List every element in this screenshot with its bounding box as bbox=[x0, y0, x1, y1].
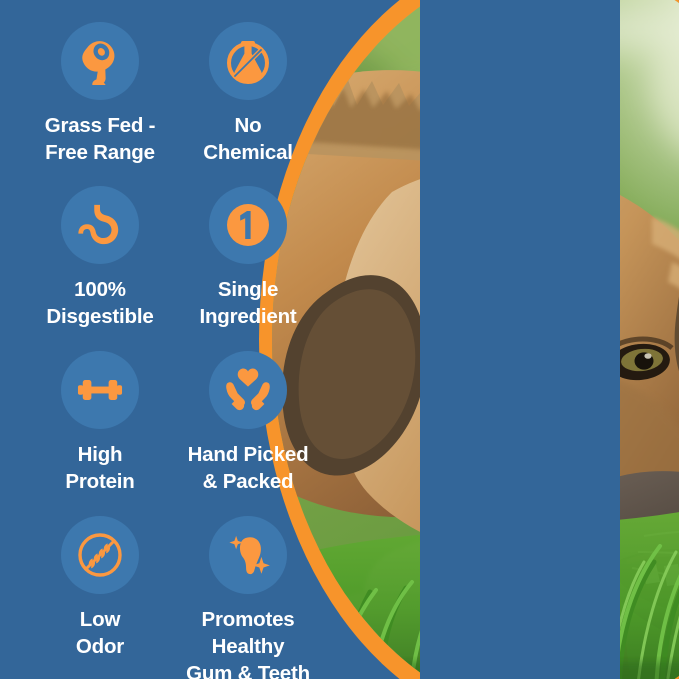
feature-label: Promotes Healthy Gum & Teeth bbox=[174, 606, 322, 679]
feature-hand-picked: Hand Picked & Packed bbox=[174, 351, 322, 495]
feature-icon-wrap bbox=[209, 351, 287, 429]
no-chemical-flask-icon bbox=[224, 37, 272, 85]
feature-grid: Grass Fed - Free Range No Chemical bbox=[0, 0, 348, 679]
feature-row-4: Low Odor Promotes Healthy Gum & Teeth bbox=[0, 516, 348, 679]
no-wheat-icon bbox=[76, 531, 124, 579]
feature-healthy-teeth: Promotes Healthy Gum & Teeth bbox=[174, 516, 322, 679]
ham-leg-icon bbox=[76, 37, 124, 85]
feature-label: Low Odor bbox=[76, 606, 124, 660]
feature-row-2: 100% Disgestible Single Ingredient bbox=[0, 186, 348, 330]
feature-label: No Chemical bbox=[203, 112, 293, 166]
feature-icon-wrap bbox=[209, 186, 287, 264]
feature-low-odor: Low Odor bbox=[26, 516, 174, 660]
dumbbell-icon bbox=[77, 367, 123, 413]
feature-label: Grass Fed - Free Range bbox=[45, 112, 156, 166]
feature-icon-wrap bbox=[209, 22, 287, 100]
feature-row-3: High Protein Hand Picked & Packed bbox=[0, 351, 348, 495]
feature-no-chemical: No Chemical bbox=[174, 22, 322, 166]
product-feature-infographic: Grass Fed - Free Range No Chemical bbox=[0, 0, 679, 679]
feature-label: Hand Picked & Packed bbox=[188, 441, 309, 495]
stomach-icon bbox=[77, 202, 123, 248]
feature-label: High Protein bbox=[65, 441, 134, 495]
feature-grass-fed: Grass Fed - Free Range bbox=[26, 22, 174, 166]
feature-icon-wrap bbox=[61, 516, 139, 594]
feature-high-protein: High Protein bbox=[26, 351, 174, 495]
feature-label: 100% Disgestible bbox=[46, 276, 153, 330]
feature-single-ingredient: Single Ingredient bbox=[174, 186, 322, 330]
hands-holding-heart-icon bbox=[224, 366, 272, 414]
feature-label: Single Ingredient bbox=[199, 276, 296, 330]
feature-icon-wrap bbox=[61, 351, 139, 429]
feature-icon-wrap bbox=[61, 22, 139, 100]
number-one-icon bbox=[224, 201, 272, 249]
feature-row-1: Grass Fed - Free Range No Chemical bbox=[0, 22, 348, 166]
canvas-right-mask bbox=[420, 0, 620, 679]
feature-icon-wrap bbox=[61, 186, 139, 264]
feature-digestible: 100% Disgestible bbox=[26, 186, 174, 330]
feature-icon-wrap bbox=[209, 516, 287, 594]
sparkling-tooth-icon bbox=[225, 532, 271, 578]
